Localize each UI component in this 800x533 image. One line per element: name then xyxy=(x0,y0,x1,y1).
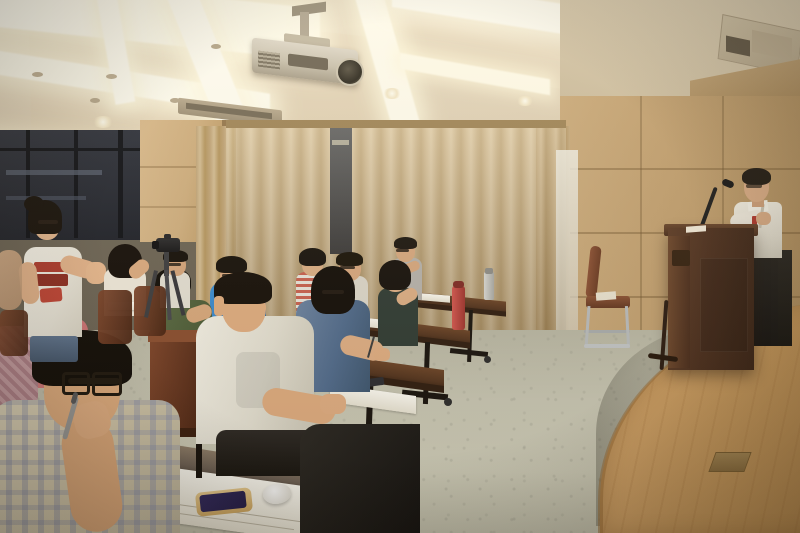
projector-mount-arm xyxy=(300,12,309,38)
speaker-hair xyxy=(742,168,771,185)
downlight xyxy=(92,116,114,128)
person-silhouette xyxy=(300,424,420,533)
wood-wall-seam xyxy=(722,96,724,228)
standing-woman-hair-bun xyxy=(24,196,44,212)
standing-woman-hand xyxy=(86,262,106,284)
downlight xyxy=(516,96,534,106)
person-hair xyxy=(216,256,247,273)
tshirt-graphic-shape xyxy=(39,287,62,303)
window-mullion xyxy=(118,130,123,238)
ceiling-speaker xyxy=(90,98,100,103)
red-flask[interactable] xyxy=(452,286,465,330)
person-hair xyxy=(379,260,411,290)
tshirt-graphic-line xyxy=(36,274,68,286)
podium-shelf xyxy=(672,250,690,266)
chair-leg xyxy=(196,438,202,478)
person-hair xyxy=(299,248,326,266)
person-hand xyxy=(320,394,346,414)
table-caster xyxy=(444,398,452,406)
projector-lens xyxy=(336,58,364,86)
ceiling-speaker xyxy=(170,98,180,103)
ceiling-speaker xyxy=(211,44,221,49)
person-ear xyxy=(214,296,224,316)
person-glasses xyxy=(396,249,409,252)
ceiling-speaker xyxy=(106,74,117,79)
speaker-glasses xyxy=(746,184,762,188)
person-hair xyxy=(394,237,417,249)
person-hair xyxy=(336,252,363,266)
speaker-hand xyxy=(756,212,771,225)
camera-viewfinder xyxy=(164,234,171,239)
person-partial xyxy=(0,250,22,310)
red-flask-cap xyxy=(453,281,464,288)
chair-back[interactable] xyxy=(0,310,28,356)
ceiling-speaker xyxy=(32,72,43,77)
thermos-bottle[interactable] xyxy=(484,272,494,300)
standing-woman-shorts xyxy=(30,336,78,362)
projector-vent xyxy=(258,51,280,70)
table-caster xyxy=(484,356,491,363)
person-glasses xyxy=(167,263,181,266)
sheer-curtain xyxy=(556,150,578,350)
window-transom xyxy=(0,148,140,151)
wood-wall-seam xyxy=(640,96,642,366)
seminar-room-photograph: Seminar room lecture Indoor conference r… xyxy=(0,0,800,533)
visitor-chair-frame[interactable] xyxy=(584,330,630,333)
podium-front-panel xyxy=(700,258,748,352)
window-mullion xyxy=(74,130,78,238)
stage-floor-socket xyxy=(708,452,751,472)
person-glasses xyxy=(322,290,344,294)
video-camera-icon[interactable] xyxy=(156,238,180,252)
camera-lens xyxy=(152,241,159,249)
curtain-rail xyxy=(226,120,566,128)
downlight xyxy=(382,88,402,99)
window-reflection xyxy=(6,170,102,175)
thermos-cap xyxy=(485,268,493,274)
chair-back[interactable] xyxy=(98,290,132,344)
person-hand xyxy=(374,348,390,361)
standing-woman-glasses xyxy=(38,220,58,224)
paper-on-chair xyxy=(596,291,617,300)
foreground-person-glasses-lens xyxy=(92,372,122,396)
visitor-chair-foot-rail xyxy=(584,344,630,348)
